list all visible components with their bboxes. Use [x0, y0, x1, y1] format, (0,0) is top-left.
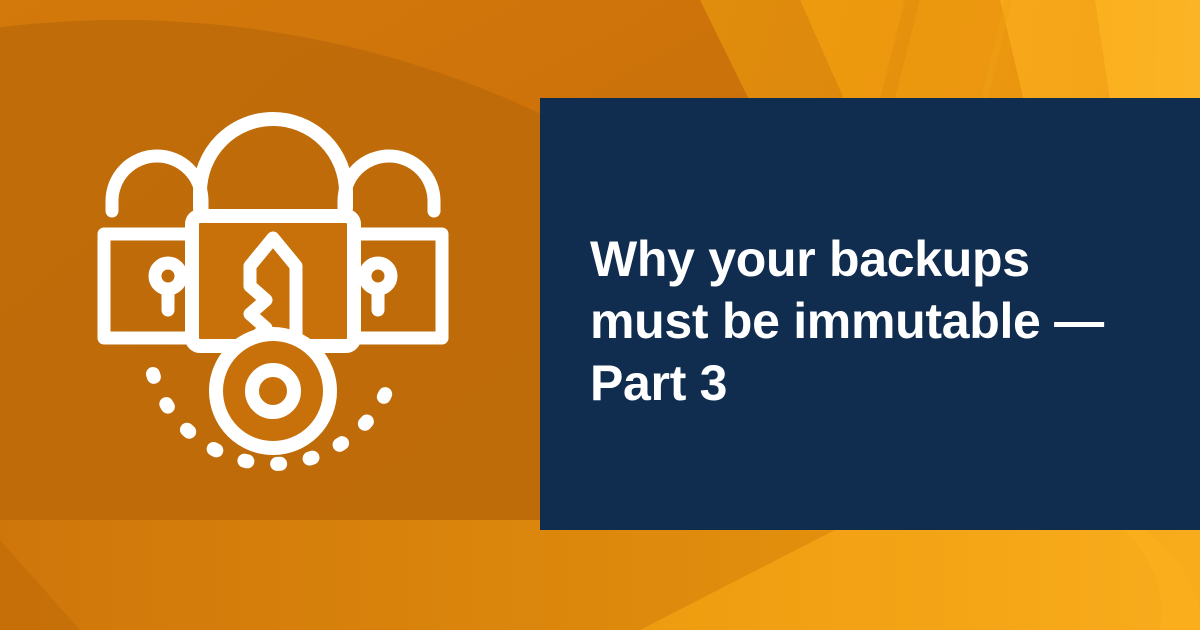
title-panel: Why your backups must be immutable — Par…	[540, 98, 1200, 530]
padlocks-key-illustration	[78, 108, 468, 498]
page-title: Why your backups must be immutable — Par…	[590, 228, 1150, 414]
social-banner: Why your backups must be immutable — Par…	[0, 0, 1200, 630]
